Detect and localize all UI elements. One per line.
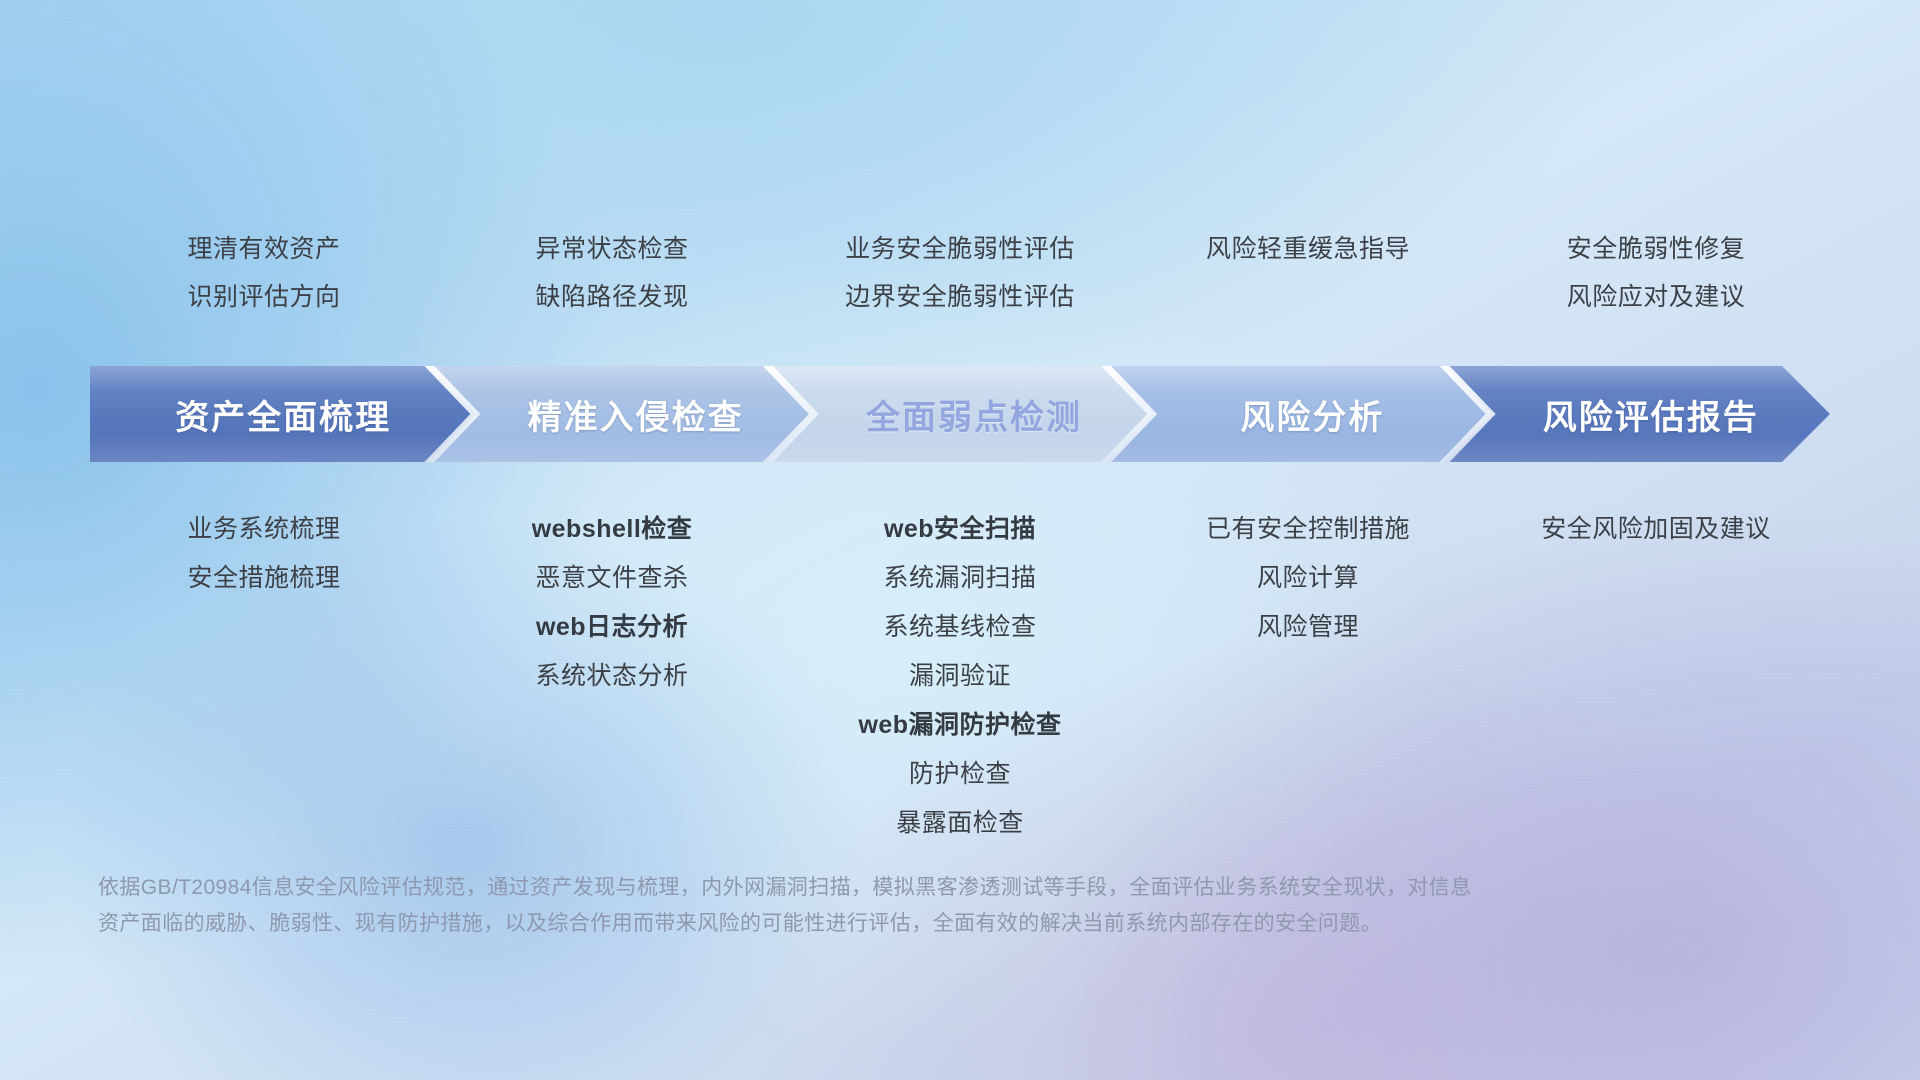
- footer-description: 依据GB/T20984信息安全风险评估规范，通过资产发现与梳理，内外网漏洞扫描，…: [98, 870, 1628, 942]
- chevron-assessment-report[interactable]: 风险评估报告: [1444, 366, 1830, 462]
- activity-column-asset-inventory: 业务系统梳理安全措施梳理: [90, 512, 438, 595]
- activity-item: web安全扫描: [786, 512, 1134, 546]
- outcome-item: 业务安全脆弱性评估: [786, 232, 1134, 266]
- stage-activities-row: 业务系统梳理安全措施梳理webshell检查恶意文件查杀web日志分析系统状态分…: [90, 512, 1830, 840]
- chevron-shape: 全面弱点检测: [767, 366, 1153, 462]
- outcome-item: 风险应对及建议: [1482, 280, 1830, 314]
- outcome-item: 识别评估方向: [90, 280, 438, 314]
- outcome-column-intrusion-check: 异常状态检查缺陷路径发现: [438, 232, 786, 314]
- activity-item: web漏洞防护检查: [786, 708, 1134, 742]
- activity-column-assessment-report: 安全风险加固及建议: [1482, 512, 1830, 546]
- activity-item: 已有安全控制措施: [1134, 512, 1482, 546]
- chevron-intrusion-check[interactable]: 精准入侵检查: [428, 366, 814, 462]
- activity-item: webshell检查: [438, 512, 786, 546]
- chevron-label: 风险评估报告: [1543, 390, 1759, 439]
- stage-outcomes-row: 理清有效资产识别评估方向异常状态检查缺陷路径发现业务安全脆弱性评估边界安全脆弱性…: [90, 232, 1830, 314]
- outcome-item: 风险轻重缓急指导: [1134, 232, 1482, 266]
- activity-item: 风险计算: [1134, 561, 1482, 595]
- chevron-shape: 精准入侵检查: [428, 366, 814, 462]
- chevron-label: 精准入侵检查: [528, 390, 744, 439]
- activity-item: 风险管理: [1134, 610, 1482, 644]
- activity-item: 漏洞验证: [786, 659, 1134, 693]
- activity-item: 业务系统梳理: [90, 512, 438, 546]
- outcome-column-asset-inventory: 理清有效资产识别评估方向: [90, 232, 438, 314]
- activity-item: 暴露面检查: [786, 806, 1134, 840]
- activity-item: 系统漏洞扫描: [786, 561, 1134, 595]
- chevron-label: 风险分析: [1240, 390, 1384, 439]
- activity-item: web日志分析: [438, 610, 786, 644]
- chevron-shape: 风险评估报告: [1444, 366, 1830, 462]
- outcome-item: 异常状态检查: [438, 232, 786, 266]
- activity-item: 防护检查: [786, 757, 1134, 791]
- diagram-canvas: 理清有效资产识别评估方向异常状态检查缺陷路径发现业务安全脆弱性评估边界安全脆弱性…: [0, 0, 1920, 1080]
- footer-line-2: 资产面临的威胁、脆弱性、现有防护措施，以及综合作用而带来风险的可能性进行评估，全…: [98, 906, 1628, 942]
- activity-column-weakness-detection: web安全扫描系统漏洞扫描系统基线检查漏洞验证web漏洞防护检查防护检查暴露面检…: [786, 512, 1134, 840]
- process-chevron-banner: 资产全面梳理精准入侵检查全面弱点检测风险分析风险评估报告: [90, 366, 1830, 462]
- activity-column-risk-analysis: 已有安全控制措施风险计算风险管理: [1134, 512, 1482, 644]
- chevron-shape: 风险分析: [1105, 366, 1491, 462]
- activity-item: 系统状态分析: [438, 659, 786, 693]
- chevron-shape: 资产全面梳理: [90, 366, 476, 462]
- outcome-column-assessment-report: 安全脆弱性修复风险应对及建议: [1482, 232, 1830, 314]
- outcome-item: 理清有效资产: [90, 232, 438, 266]
- outcome-column-risk-analysis: 风险轻重缓急指导: [1134, 232, 1482, 314]
- chevron-label: 资产全面梳理: [175, 390, 391, 439]
- activity-item: 安全风险加固及建议: [1482, 512, 1830, 546]
- footer-line-1: 依据GB/T20984信息安全风险评估规范，通过资产发现与梳理，内外网漏洞扫描，…: [98, 870, 1628, 906]
- chevron-asset-inventory[interactable]: 资产全面梳理: [90, 366, 476, 462]
- chevron-weakness-detection[interactable]: 全面弱点检测: [767, 366, 1153, 462]
- activity-item: 恶意文件查杀: [438, 561, 786, 595]
- outcome-item: 缺陷路径发现: [438, 280, 786, 314]
- outcome-column-weakness-detection: 业务安全脆弱性评估边界安全脆弱性评估: [786, 232, 1134, 314]
- activity-item: 安全措施梳理: [90, 561, 438, 595]
- chevron-risk-analysis[interactable]: 风险分析: [1105, 366, 1491, 462]
- activity-item: 系统基线检查: [786, 610, 1134, 644]
- chevron-label: 全面弱点检测: [866, 390, 1082, 439]
- activity-column-intrusion-check: webshell检查恶意文件查杀web日志分析系统状态分析: [438, 512, 786, 693]
- outcome-item: 安全脆弱性修复: [1482, 232, 1830, 266]
- outcome-item: 边界安全脆弱性评估: [786, 280, 1134, 314]
